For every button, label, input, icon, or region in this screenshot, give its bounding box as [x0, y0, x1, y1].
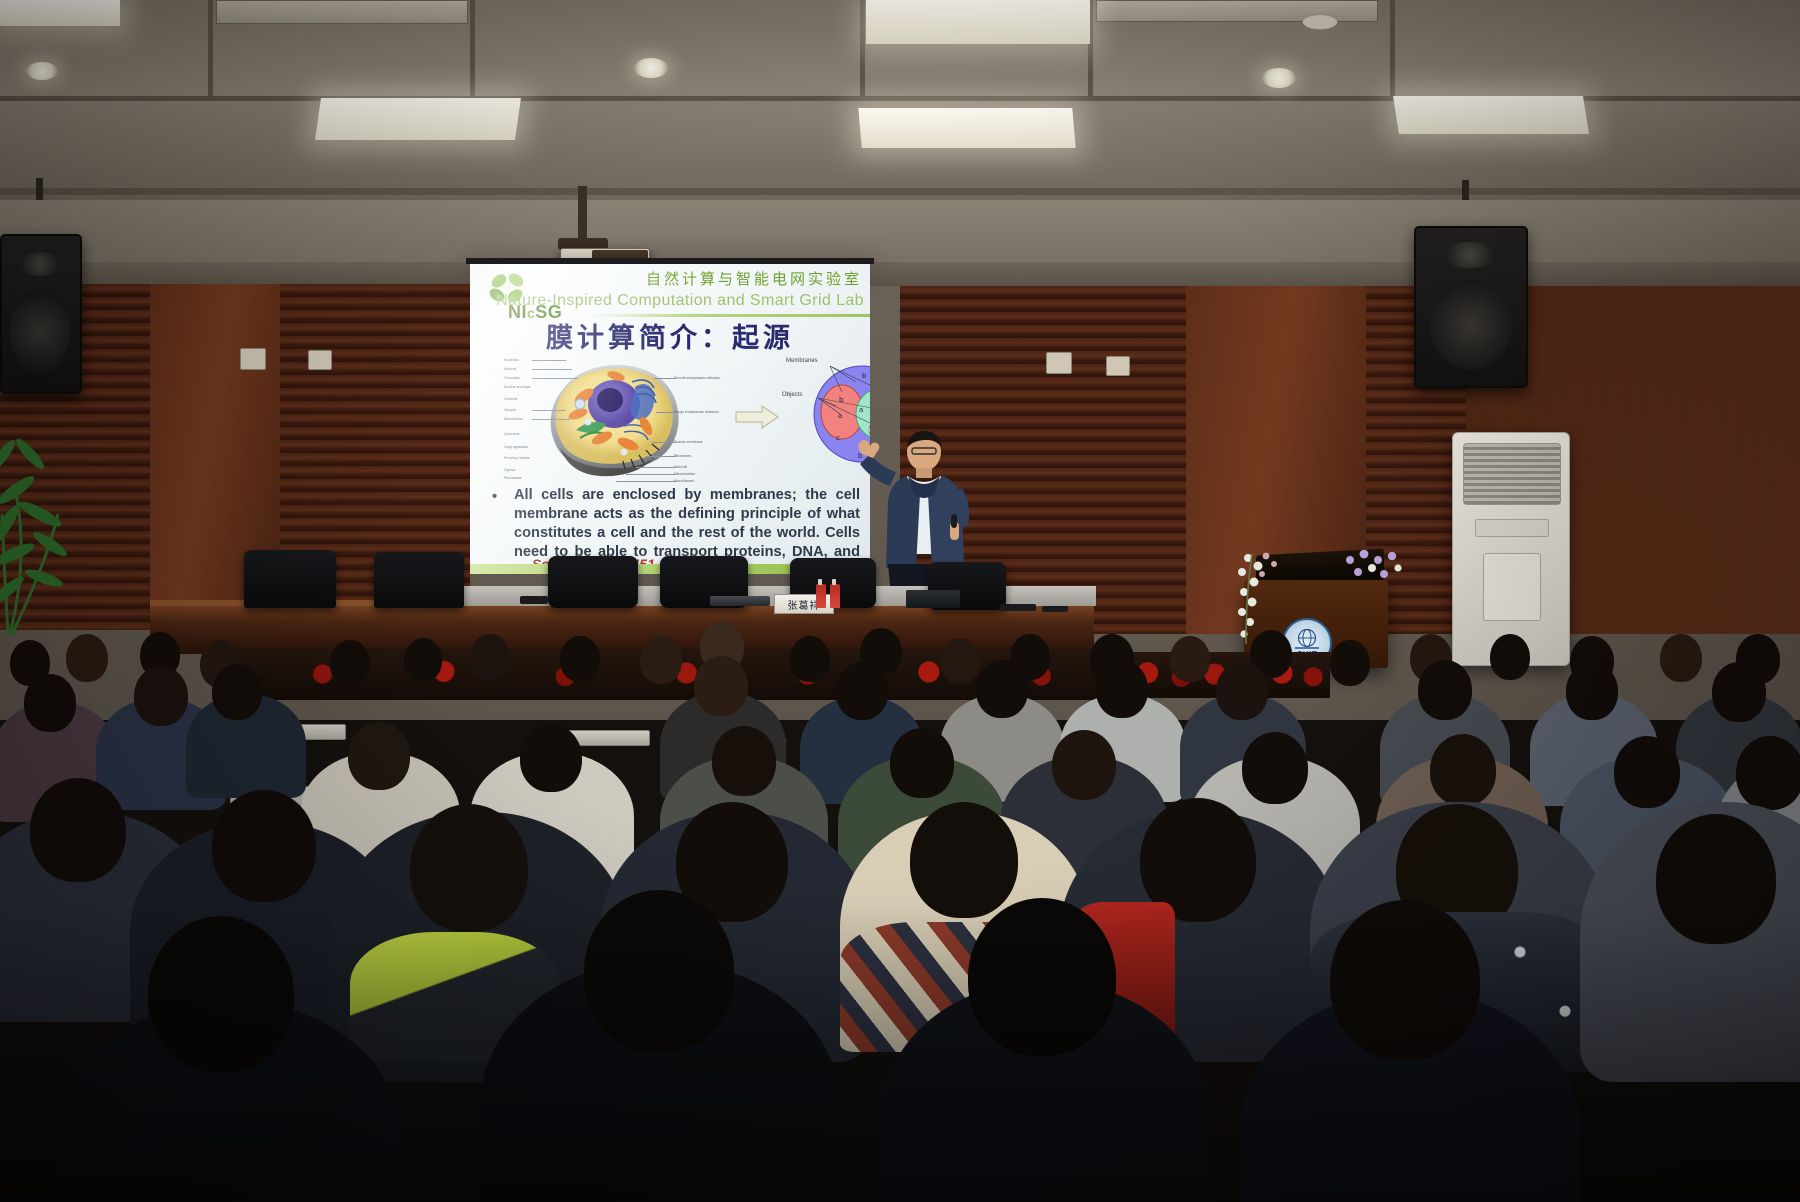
cell-callout: Secretory vesicle	[504, 456, 530, 460]
ceiling-downlight	[1262, 68, 1296, 88]
ceiling-light-panel	[0, 0, 120, 26]
audience-head	[30, 778, 126, 882]
cell-callout: Vacuole	[504, 408, 516, 412]
ceiling-downlight	[634, 58, 668, 78]
ceiling-light-panel	[858, 108, 1075, 148]
cell-callout: Nuclear envelope	[504, 385, 530, 389]
transform-arrow-icon	[734, 404, 780, 430]
audience-head	[1242, 732, 1308, 804]
audience-head	[1656, 814, 1776, 944]
ceiling-panel	[216, 0, 468, 24]
audience-head	[404, 638, 442, 682]
audience-head	[694, 656, 748, 716]
audience-head	[1330, 640, 1370, 686]
audience-head	[584, 890, 734, 1052]
diagram-label-membranes: Membranes	[786, 358, 818, 364]
cell-callout: Chromatin	[504, 376, 520, 380]
wall-outlet	[308, 350, 332, 370]
audience-head	[212, 664, 262, 720]
audience-head	[1712, 662, 1766, 722]
stage-chair[interactable]	[548, 556, 638, 608]
ceiling-downlight	[26, 62, 58, 80]
audience	[0, 602, 1800, 1202]
left-pa-speaker	[0, 234, 82, 394]
ceiling-light-panel	[1393, 96, 1589, 134]
wall-outlet	[1106, 356, 1130, 376]
audience-head	[212, 790, 316, 902]
ceiling-grid-line	[0, 188, 1800, 195]
projection-screen: NIcSG 自然计算与智能电网实验室 Nature-Inspired Compu…	[470, 264, 870, 574]
ceiling-grid-line	[860, 0, 865, 96]
audience-head	[148, 916, 294, 1072]
audience-head	[968, 898, 1116, 1056]
cell-callout: Peroxisome	[504, 476, 522, 480]
wall-marking	[1064, 358, 1090, 370]
cell-callout: Microtubules	[504, 417, 523, 421]
svg-text:b: b	[862, 372, 867, 380]
audience-head	[330, 640, 370, 686]
audience-head	[1614, 736, 1680, 808]
audience-head	[1566, 662, 1618, 720]
wall-trim	[0, 262, 1800, 286]
ceiling-light-panel	[315, 98, 521, 140]
audience-head	[1096, 660, 1148, 718]
handheld-microphone	[951, 514, 957, 528]
svg-text:c: c	[836, 434, 840, 442]
audience-head	[1170, 636, 1210, 682]
cell-callout: Mitochondrion	[674, 472, 695, 476]
slide-header-chinese: 自然计算与智能电网实验室	[646, 268, 862, 289]
stage-chair[interactable]	[374, 552, 464, 608]
cell-callout: Golgi apparatus	[504, 445, 528, 449]
cell-callout: Nucleus	[504, 367, 516, 371]
audience-head	[66, 634, 108, 682]
right-pa-speaker	[1414, 226, 1528, 388]
flower-decoration	[1336, 546, 1410, 610]
audience-head	[890, 728, 954, 798]
cell-callout: Rough endoplasmic reticulum	[674, 410, 719, 414]
ceiling-grid-line	[208, 0, 213, 96]
cell-callout: Lysosome	[504, 432, 519, 436]
lecture-hall-photo: NIcSG 自然计算与智能电网实验室 Nature-Inspired Compu…	[0, 0, 1800, 1202]
ceiling-light-panel	[866, 0, 1090, 44]
audience-head	[640, 636, 682, 684]
diagram-label-objects: Objects	[782, 392, 802, 398]
svg-text:a: a	[859, 406, 863, 414]
audience-head	[470, 634, 510, 680]
cell-callout: Cytosol	[504, 468, 515, 472]
bullet-marker: •	[492, 488, 497, 507]
audience-head	[348, 722, 410, 790]
audience-head	[410, 804, 528, 932]
audience-head	[1430, 734, 1496, 806]
audience-body	[712, 726, 776, 796]
audience-head	[1736, 736, 1800, 810]
ceiling-grid-line	[470, 0, 475, 96]
ceiling-grid-line	[1390, 0, 1395, 96]
audience-head	[134, 666, 188, 726]
audience-head	[1052, 730, 1116, 800]
cell-callout: Smooth endoplasmic reticulum	[674, 376, 720, 380]
audience-head	[910, 802, 1018, 918]
eukaryotic-cell-diagram: Nucleolus Nucleus Chromatin Nuclear enve…	[506, 352, 716, 482]
projector-mount	[578, 186, 587, 244]
audience-head	[790, 636, 830, 682]
cell-callout: Ribosomes	[674, 454, 691, 458]
audience-head	[1660, 634, 1702, 682]
cell-callout: Microfilament	[674, 479, 694, 483]
wall-upper-band	[0, 200, 1800, 262]
smoke-detector-icon	[1302, 14, 1338, 30]
cell-callout: Plasma membrane	[674, 440, 702, 444]
audience-head	[1216, 662, 1268, 720]
cell-callout: Nucleolus	[504, 358, 519, 362]
audience-head	[1490, 634, 1530, 680]
audience-head	[976, 660, 1028, 718]
slide-title: 膜计算简介：起源	[470, 316, 870, 355]
slide-header-english: Nature-Inspired Computation and Smart Gr…	[496, 292, 864, 310]
cell-callout: Centriole	[504, 397, 518, 401]
audience-head	[520, 724, 582, 792]
audience-head	[560, 636, 600, 682]
wall-outlet	[240, 348, 266, 370]
audience-head	[1330, 900, 1480, 1060]
audience-head	[1418, 660, 1472, 720]
audience-head	[940, 638, 980, 684]
stage-chair[interactable]	[244, 550, 336, 608]
audience-head	[836, 662, 888, 720]
audience-head	[24, 674, 76, 732]
